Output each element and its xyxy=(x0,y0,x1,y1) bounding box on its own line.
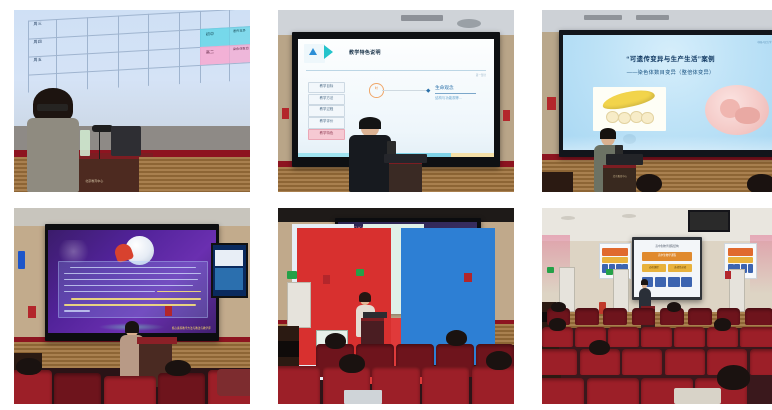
exit-sign xyxy=(356,269,364,276)
laptop xyxy=(111,126,142,155)
schedule-row-label: 周四 xyxy=(32,38,44,45)
side-monitor xyxy=(211,243,248,298)
photo-6[interactable]: 高中生物学课程结构 高中生物学课程 必修课程 选择性必修 xyxy=(542,208,772,404)
microphone-head xyxy=(92,125,113,132)
schedule-cell-label: 初中 xyxy=(204,30,216,37)
fire-alarm-box xyxy=(464,273,471,283)
exit-sign xyxy=(18,251,25,269)
ceiling-light xyxy=(561,216,575,220)
audience-row xyxy=(542,172,772,192)
photo-5[interactable]: 学习任务的成果展示 红宣汇 xyxy=(278,208,514,404)
schedule-row-label: 周五 xyxy=(32,56,44,63)
slide-title: 高中生物学课程结构 xyxy=(634,244,700,248)
slide-watermark: 中国人民大学 xyxy=(757,40,771,44)
baby-illustration xyxy=(705,85,769,135)
fire-alarm-box xyxy=(503,110,510,121)
diagram-subband: 选择性必修 xyxy=(668,264,692,272)
podium xyxy=(389,161,422,192)
slide-title: “可遗传变异与生产生活”案例 xyxy=(563,54,772,63)
ceiling-vent xyxy=(401,15,443,20)
fire-alarm-box xyxy=(28,306,36,318)
ceiling xyxy=(542,208,772,241)
divider xyxy=(306,70,486,71)
diagram-subband-label: 必修课程 xyxy=(642,264,666,271)
banana-photo xyxy=(593,87,666,131)
slide-nav-item[interactable]: 教学评价 xyxy=(308,117,345,128)
chevron-right-icon xyxy=(324,45,333,59)
ceiling xyxy=(542,10,772,32)
fire-alarm-box xyxy=(547,97,556,110)
diagram-subband-label: 选择性必修 xyxy=(668,264,692,271)
footer-band xyxy=(451,153,494,157)
fire-alarm-box xyxy=(323,275,330,285)
slide-subtitle: ——染色体数目变异（整倍体变异） xyxy=(563,69,772,76)
diamond-bullet-icon xyxy=(427,88,431,92)
slide-bullet: 生命观念 xyxy=(435,85,453,91)
exit-sign xyxy=(606,269,613,275)
photo-3[interactable]: 中国人民大学 “可遗传变异与生产生活”案例 ——染色体数目变异（整倍体变异） xyxy=(542,10,772,192)
photo-2[interactable]: 教学特色说明 第一部分 教学目标 教学方法 教学过程 教学评价 教学特色 时 生… xyxy=(278,10,514,192)
diagram-leaf xyxy=(655,277,666,287)
diagram-leaf xyxy=(681,277,692,287)
slide-bullet-sub: 结构与功能观等… xyxy=(435,95,462,100)
slide-footer-text: 核心素养教学方法与教法与教学评 xyxy=(172,327,211,330)
laptop xyxy=(606,154,644,165)
door[interactable] xyxy=(287,282,310,327)
laptop xyxy=(384,154,426,163)
slide-nav-item[interactable]: 教学过程 xyxy=(308,105,345,116)
water-bottle xyxy=(80,130,89,155)
photo-1[interactable]: 周三 周四 周五 初中 遗传变异 高二 染色体数目 北京教育中心 xyxy=(14,10,250,192)
projection-slide: 教学特色说明 第一部分 教学目标 教学方法 教学过程 教学评价 教学特色 时 生… xyxy=(298,39,494,157)
slide-text-card xyxy=(58,261,207,318)
laptop xyxy=(363,312,387,318)
photo-collage-grid: 周三 周四 周五 初中 遗传变异 高二 染色体数目 北京教育中心 xyxy=(0,0,772,410)
logo-badge xyxy=(304,44,326,63)
ceiling xyxy=(14,208,250,226)
ceiling-projector xyxy=(688,210,730,232)
fire-alarm-box xyxy=(725,271,731,279)
ceiling-light xyxy=(622,214,636,218)
ceiling-vent xyxy=(636,15,669,20)
slide-corner-label: 第一部分 xyxy=(476,73,486,77)
audience-rows xyxy=(542,302,772,404)
audience-rows xyxy=(278,326,514,404)
ceiling-vent xyxy=(584,15,622,20)
projection-slide: 核心素养教学方法与教法与教学评 xyxy=(48,230,216,334)
schedule-table: 周三 周四 周五 初中 遗传变异 高二 染色体数目 xyxy=(28,10,250,75)
schedule-cell-note: 染色体数目 xyxy=(231,45,250,51)
speaker-photo-1 xyxy=(26,92,83,192)
footer-band xyxy=(298,153,349,157)
slide-nav-item-active[interactable]: 教学特色 xyxy=(308,129,345,140)
schedule-cell-label: 高二 xyxy=(204,48,216,55)
decor-glow xyxy=(55,240,92,263)
podium-trim xyxy=(137,337,177,344)
diagram-subband: 必修课程 xyxy=(642,264,666,272)
fire-alarm-box xyxy=(165,306,172,316)
diagram-leaf xyxy=(668,277,679,287)
slide-title: 教学特色说明 xyxy=(349,49,381,56)
slide-nav-item[interactable]: 教学方法 xyxy=(308,94,345,105)
diagram-band: 高中生物学课程 xyxy=(642,252,692,261)
fire-alarm-box xyxy=(282,108,289,119)
schedule-row-label: 周三 xyxy=(32,20,44,27)
slide-nav-item[interactable]: 教学目标 xyxy=(308,82,345,93)
microphone-stand xyxy=(99,130,101,159)
exit-sign xyxy=(547,267,554,273)
audience-rows xyxy=(14,353,250,404)
exit-sign xyxy=(287,271,296,279)
diagram-band-label: 高中生物学课程 xyxy=(642,252,692,260)
photo-4[interactable]: 核心素养教学方法与教法与教学评 xyxy=(14,208,250,404)
connector-line xyxy=(382,90,429,91)
schedule-cell-note: 遗传变异 xyxy=(231,28,248,34)
